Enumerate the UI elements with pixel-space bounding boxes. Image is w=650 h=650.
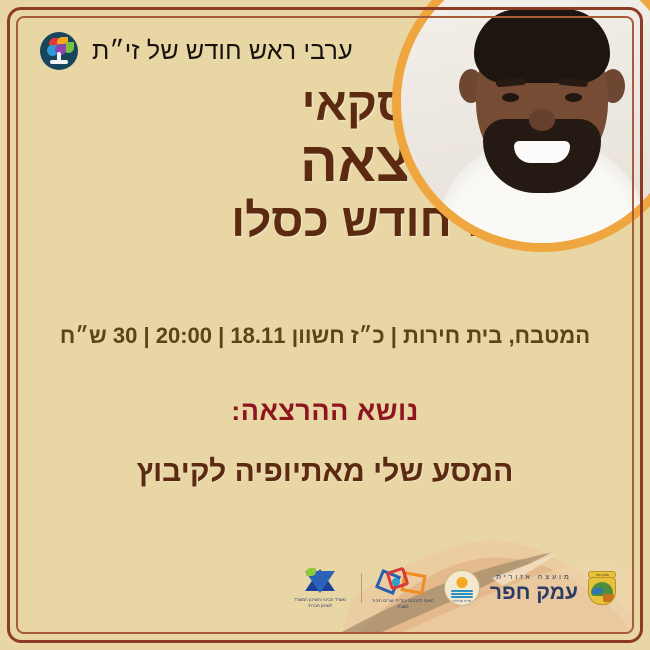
- sun-waves-icon: מרכז קהילתי: [444, 570, 480, 606]
- topic-label: נושא ההרצאה:: [42, 396, 608, 427]
- logo-hefer-valley-wordmark: מועצה אזורית עמק חפר: [490, 574, 578, 603]
- zait-tree-icon: [40, 32, 78, 70]
- hefer-title: עמק חפר: [490, 582, 578, 603]
- event-poster: ערבי ראש חודש של זי״ת גיא רסקאי בהרצאה ל…: [0, 0, 650, 650]
- logo-culture-caption: האגף לתרבות יהודית יוצרים חיבור לשבת: [372, 598, 434, 610]
- event-details-line: המטבח, בית חירות | כ״ז חשוון 18.11 | 20:…: [42, 323, 608, 349]
- logo-ministry-caption: משרד הבינוי והשיכון המשרד לשוויון חברתי: [289, 597, 351, 609]
- portrait-photo: [401, 0, 650, 243]
- header-title: ערבי ראש חודש של זי״ת: [92, 37, 353, 66]
- logo-community-caption: מרכז קהילתי: [445, 599, 479, 603]
- logo-divider: [361, 573, 362, 603]
- shield-emblem-icon: עמק חפר: [588, 571, 616, 605]
- speaker-portrait: [392, 0, 650, 252]
- star-of-david-icon: [305, 567, 335, 595]
- logo-hefer-valley-emblem: עמק חפר: [588, 571, 616, 605]
- footer-logo-strip: משרד הבינוי והשיכון המשרד לשוויון חברתי …: [289, 566, 616, 610]
- logo-ministry-social-equality: משרד הבינוי והשיכון המשרד לשוויון חברתי: [289, 567, 351, 609]
- topic-text: המסע שלי מאתיופיה לקיבוץ: [42, 455, 608, 489]
- colorful-shapes-icon: [376, 566, 430, 596]
- hefer-subtitle: מועצה אזורית: [496, 574, 572, 581]
- logo-culture-department: האגף לתרבות יהודית יוצרים חיבור לשבת: [372, 566, 434, 610]
- logo-community-center: מרכז קהילתי: [444, 570, 480, 606]
